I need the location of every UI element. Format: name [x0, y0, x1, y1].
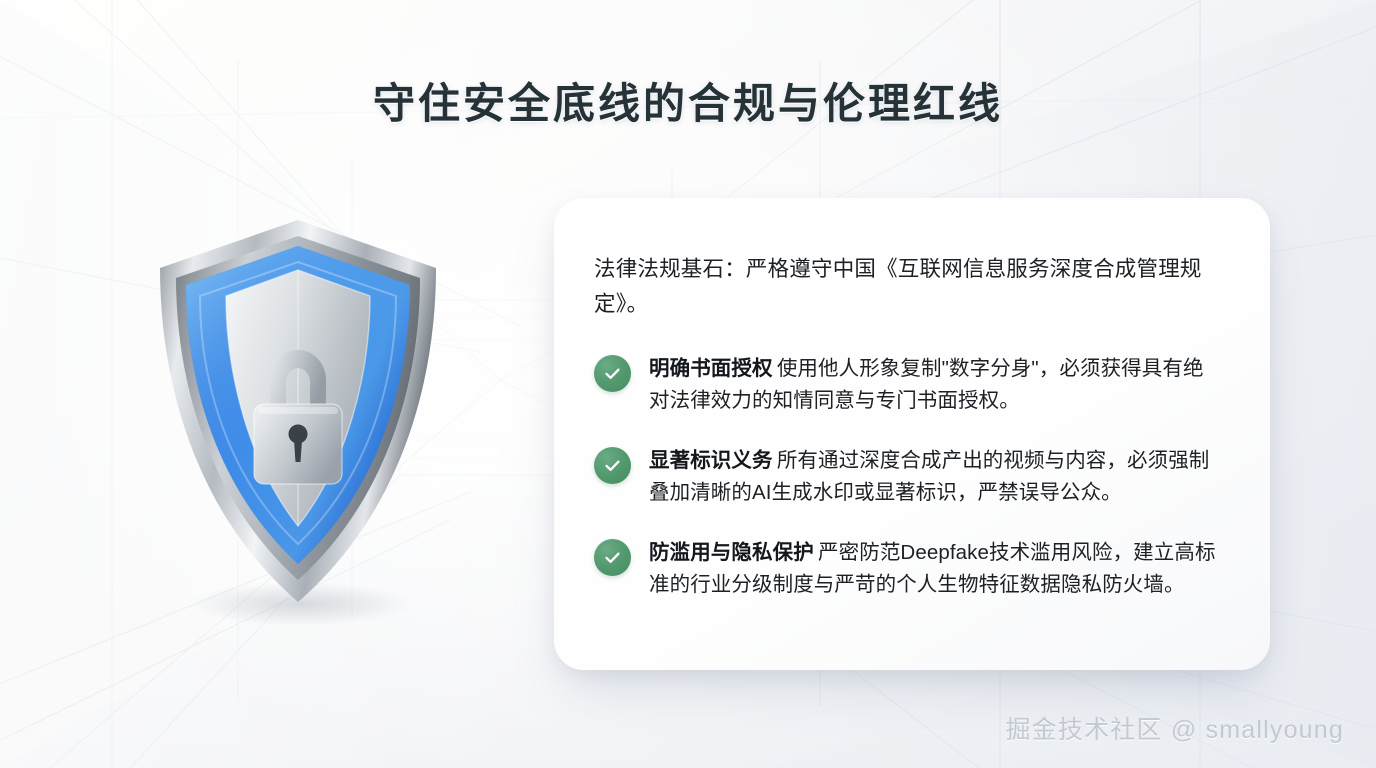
check-icon — [594, 355, 631, 392]
check-icon — [594, 447, 631, 484]
list-item-text: 显著标识义务 所有通过深度合成产出的视频与内容，必须强制叠加清晰的AI生成水印或… — [649, 444, 1224, 509]
intro-paragraph: 法律法规基石：严格遵守中国《互联网信息服务深度合成管理规定》。 — [594, 252, 1224, 322]
slide-root: 守住安全底线的合规与伦理红线 — [0, 0, 1376, 768]
watermark: 掘金技术社区 @ smallyoung — [1005, 710, 1344, 746]
list-item: 防滥用与隐私保护 严密防范Deepfake技术滥用风险，建立高标准的行业分级制度… — [594, 536, 1224, 601]
list-item: 显著标识义务 所有通过深度合成产出的视频与内容，必须强制叠加清晰的AI生成水印或… — [594, 444, 1224, 509]
content-card: 法律法规基石：严格遵守中国《互联网信息服务深度合成管理规定》。 明确书面授权 使… — [554, 198, 1270, 670]
list-item: 明确书面授权 使用他人形象复制"数字分身"，必须获得具有绝对法律效力的知情同意与… — [594, 352, 1224, 417]
shield-illustration — [148, 212, 448, 612]
page-title: 守住安全底线的合规与伦理红线 — [0, 70, 1376, 131]
list-item-label: 显著标识义务 — [649, 449, 777, 472]
list-item-text: 防滥用与隐私保护 严密防范Deepfake技术滥用风险，建立高标准的行业分级制度… — [649, 536, 1224, 601]
list-item-label: 明确书面授权 — [649, 357, 777, 380]
list-item-text: 明确书面授权 使用他人形象复制"数字分身"，必须获得具有绝对法律效力的知情同意与… — [649, 352, 1224, 417]
list-item-label: 防滥用与隐私保护 — [649, 541, 818, 564]
check-icon — [594, 539, 631, 576]
compliance-bullet-list: 明确书面授权 使用他人形象复制"数字分身"，必须获得具有绝对法律效力的知情同意与… — [594, 352, 1224, 601]
